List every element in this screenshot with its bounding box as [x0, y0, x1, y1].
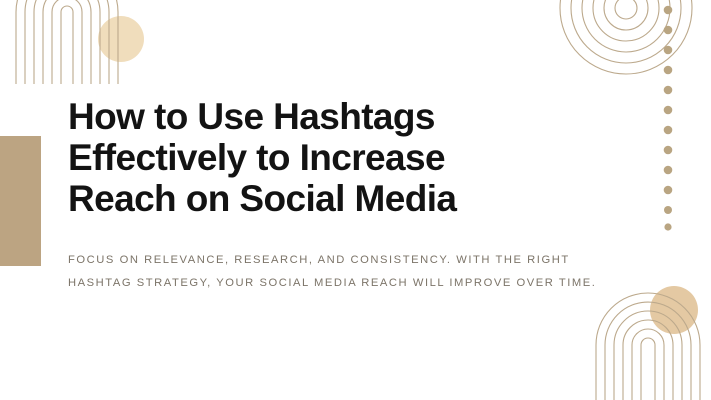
page-title: How to Use Hashtags Effectively to Incre… — [68, 96, 638, 219]
text-block: How to Use Hashtags Effectively to Incre… — [68, 96, 638, 294]
slide-canvas: How to Use Hashtags Effectively to Incre… — [0, 0, 711, 400]
sand-circle-bottom-right — [650, 286, 698, 334]
vertical-dot-column — [661, 4, 675, 232]
cream-circle-top-left — [98, 16, 144, 62]
concentric-circles-top-right — [556, 0, 696, 88]
tan-rectangle-left — [0, 136, 41, 266]
page-subtitle: FOCUS ON RELEVANCE, RESEARCH, AND CONSIS… — [68, 219, 624, 294]
